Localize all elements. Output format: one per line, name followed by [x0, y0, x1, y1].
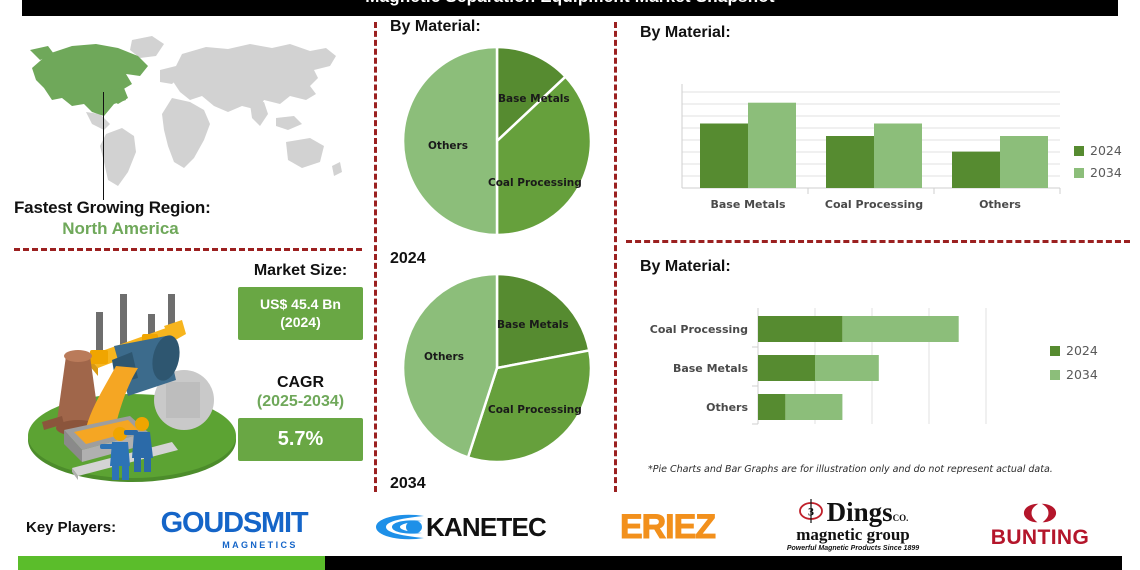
market-size-value: US$ 45.4 Bn	[260, 296, 341, 312]
pie-2024-section-title: By Material:	[390, 18, 604, 36]
logo-dings-co: CO.	[893, 513, 909, 523]
svg-text:3: 3	[808, 505, 814, 519]
stacked-legend-swatch-2034	[1050, 370, 1060, 380]
column-chart-section-title: By Material:	[640, 24, 1130, 42]
stacked-bar-chart: Coal Processing Base Metals Others 2024 …	[640, 284, 1130, 464]
logo-eriez[interactable]: ERIEZ	[600, 508, 735, 546]
column-others-2034	[1000, 136, 1048, 188]
pie-panel-2024: By Material: Base Metals Coal Processing…	[390, 18, 604, 268]
pie-chart-2034: Base Metals Coal Processing Others	[390, 265, 604, 471]
logo-dings-tagline: Powerful Magnetic Products Since 1899	[787, 545, 919, 552]
stacked-base-metals-2034	[815, 355, 879, 381]
column-legend-swatch-2034	[1074, 168, 1084, 178]
infographic-root: Magnetic Separation Equipment Market Sna…	[0, 0, 1140, 570]
market-size-label: Market Size:	[238, 262, 363, 280]
stacked-legend-label-2034: 2034	[1066, 367, 1098, 382]
key-players-label: Key Players:	[26, 519, 116, 536]
stacked-coal-processing-2024	[758, 316, 842, 342]
stacked-bar-panel: By Material: Coal Processing	[640, 258, 1130, 469]
stacked-legend-label-2024: 2024	[1066, 343, 1098, 358]
chart-footnote: *Pie Charts and Bar Graphs are for illus…	[648, 464, 1053, 475]
market-size-box: US$ 45.4 Bn (2024)	[238, 287, 363, 340]
column-others-2024	[952, 152, 1000, 188]
stacked-bar-legend: 2024 2034	[1050, 343, 1098, 382]
pie-2034-year: 2034	[390, 475, 604, 493]
column-legend-label-2034: 2034	[1090, 165, 1122, 180]
logo-dings-main: DingsCO.	[827, 499, 909, 526]
pie-2034-label-coal-processing: Coal Processing	[488, 404, 582, 416]
column-chart: Base Metals Coal Processing Others 2024 …	[640, 48, 1130, 216]
logo-bunting[interactable]: BUNTING	[970, 502, 1110, 550]
divider-horizontal-right	[626, 240, 1130, 243]
foundry-illustration	[16, 272, 244, 492]
pie-2024-label-base-metals: Base Metals	[498, 93, 570, 105]
column-legend-swatch-2024	[1074, 146, 1084, 156]
stacked-ytick-coal-processing: Coal Processing	[650, 323, 748, 336]
divider-vertical-left	[374, 22, 377, 492]
region-value: North America	[14, 219, 227, 239]
bottom-strip-black	[325, 556, 1122, 570]
column-xtick-others: Others	[979, 198, 1021, 211]
stacked-others-2024	[758, 394, 785, 420]
bottom-strip-green	[18, 556, 325, 570]
stacked-ytick-others: Others	[706, 401, 748, 414]
cagr-years: (2025-2034)	[238, 393, 363, 411]
stacked-coal-processing-2034	[842, 316, 958, 342]
logo-dings-group: magnetic group	[796, 526, 910, 544]
logo-goudsmit-sub: MAGNETICS	[222, 540, 298, 550]
logo-dings[interactable]: 3 DingsCO. magnetic group Powerful Magne…	[768, 500, 938, 550]
column-xtick-base-metals: Base Metals	[710, 198, 786, 211]
page-title: Magnetic Separation Equipment Market Sna…	[22, 0, 1118, 7]
stacked-base-metals-2024	[758, 355, 815, 381]
stacked-others-2034	[785, 394, 842, 420]
logo-eriez-main: ERIEZ	[620, 508, 715, 547]
pie-panel-2034: Base Metals Coal Processing Others 2034	[390, 265, 604, 493]
logo-kanetec[interactable]: KANETEC	[360, 510, 560, 544]
column-base-metals-2034	[748, 103, 796, 188]
logo-goudsmit-main: GOUDSMIT	[161, 509, 308, 538]
stats-column: Market Size: US$ 45.4 Bn (2024) CAGR (20…	[238, 262, 363, 461]
column-coal-processing-2024	[826, 136, 874, 188]
header-banner: Magnetic Separation Equipment Market Sna…	[22, 0, 1118, 16]
dings-magnet-icon: 3	[798, 498, 824, 524]
pie-2034-label-base-metals: Base Metals	[497, 319, 569, 331]
column-coal-processing-2034	[874, 124, 922, 189]
fastest-growing-region: Fastest Growing Region: North America	[14, 198, 354, 239]
pie-2024-label-coal-processing: Coal Processing	[488, 177, 582, 189]
bunting-mark-icon	[1011, 502, 1069, 524]
stacked-ytick-base-metals: Base Metals	[673, 362, 749, 375]
column-xtick-coal-processing: Coal Processing	[825, 198, 923, 211]
market-size-year: (2024)	[280, 314, 320, 330]
column-base-metals-2024	[700, 124, 748, 189]
logo-bunting-main: BUNTING	[991, 526, 1089, 550]
pie-2034-label-others: Others	[424, 351, 464, 363]
cagr-label: CAGR	[238, 374, 363, 392]
pie-chart-2024: Base Metals Coal Processing Others	[390, 38, 604, 244]
metal-foundry-icon	[16, 272, 244, 492]
bottom-strip	[0, 556, 1140, 570]
cagr-box: 5.7%	[238, 418, 363, 461]
column-chart-legend: 2024 2034	[1074, 143, 1122, 180]
stacked-legend-swatch-2024	[1050, 346, 1060, 356]
world-map-icon	[14, 26, 356, 196]
logo-kanetec-main: KANETEC	[426, 512, 546, 543]
column-chart-panel: By Material:	[640, 24, 1130, 221]
world-map	[14, 26, 356, 196]
map-pointer-line	[103, 92, 104, 200]
stacked-bar-section-title: By Material:	[640, 258, 1130, 276]
divider-vertical-right	[614, 22, 617, 492]
kanetec-swoosh-icon	[374, 512, 428, 542]
logo-goudsmit[interactable]: GOUDSMIT MAGNETICS	[136, 508, 332, 550]
divider-horizontal-left	[14, 248, 362, 251]
column-legend-label-2024: 2024	[1090, 143, 1122, 158]
pie-2024-label-others: Others	[428, 140, 468, 152]
region-label: Fastest Growing Region:	[14, 198, 354, 218]
